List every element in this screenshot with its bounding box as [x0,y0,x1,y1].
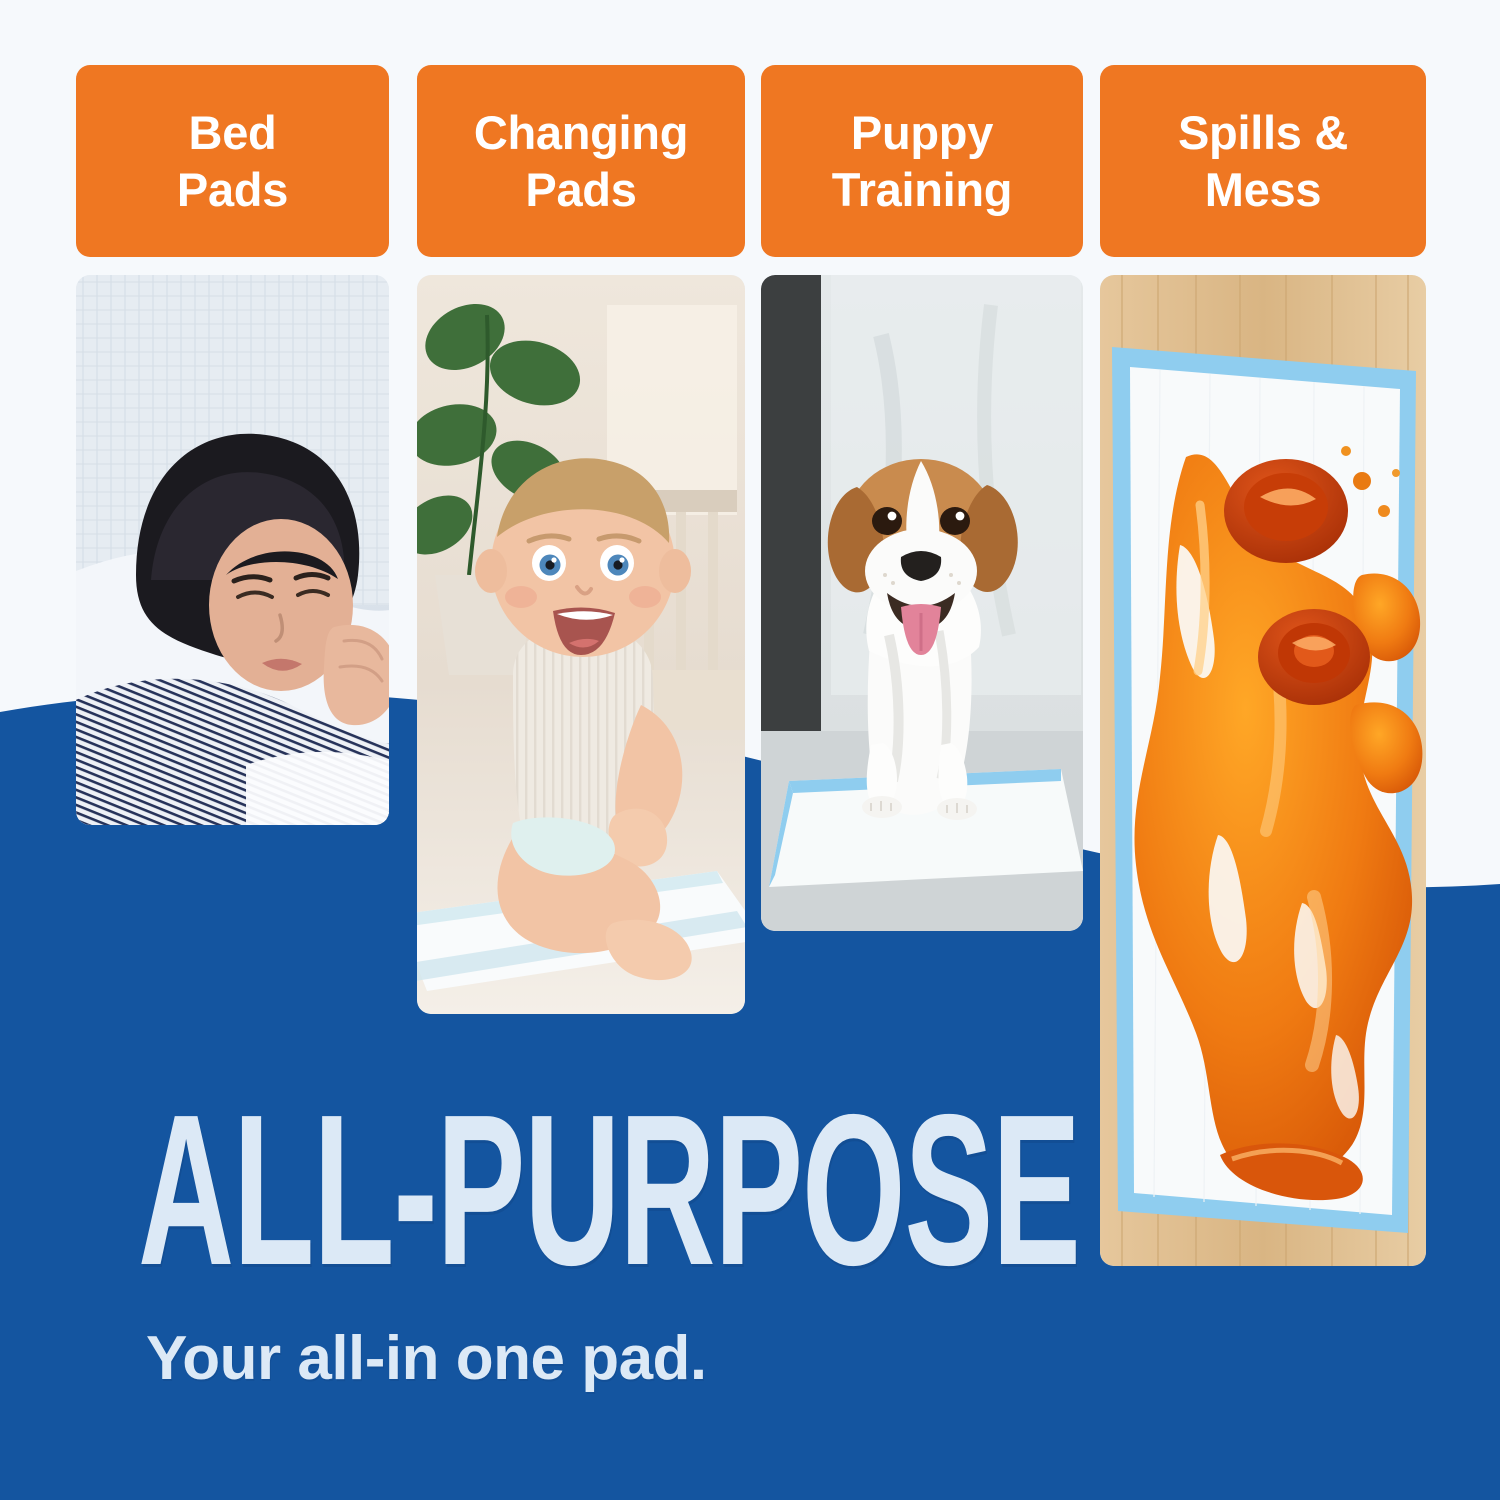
category-label-row: Bed Pads Changing Pads Puppy Training Sp… [0,0,1500,270]
bed-pads-illustration [76,275,389,825]
puppy-training-illustration [761,275,1083,931]
hero-headline: ALL-PURPOSE [138,1095,1080,1284]
label-spills-mess-line1: Spills & [1178,104,1348,161]
label-bed-pads-line2: Pads [177,161,288,218]
card-puppy-training [761,275,1083,931]
label-spills-mess-line2: Mess [1178,161,1348,218]
label-puppy-training[interactable]: Puppy Training [761,65,1083,257]
label-changing-pads-line1: Changing [474,104,688,161]
changing-pads-illustration [417,275,745,1014]
infographic-stage: Bed Pads Changing Pads Puppy Training Sp… [0,0,1500,1500]
label-changing-pads-line2: Pads [474,161,688,218]
label-bed-pads[interactable]: Bed Pads [76,65,389,257]
label-spills-mess[interactable]: Spills & Mess [1100,65,1426,257]
label-puppy-training-line2: Training [832,161,1012,218]
hero-text-block: ALL-PURPOSE Your all-in one pad. [138,1095,1500,1390]
card-changing-pads [417,275,745,1014]
label-changing-pads[interactable]: Changing Pads [417,65,745,257]
hero-subhead: Your all-in one pad. [146,1328,1500,1390]
label-bed-pads-line1: Bed [177,104,288,161]
card-bed-pads [76,275,389,825]
label-puppy-training-line1: Puppy [832,104,1012,161]
